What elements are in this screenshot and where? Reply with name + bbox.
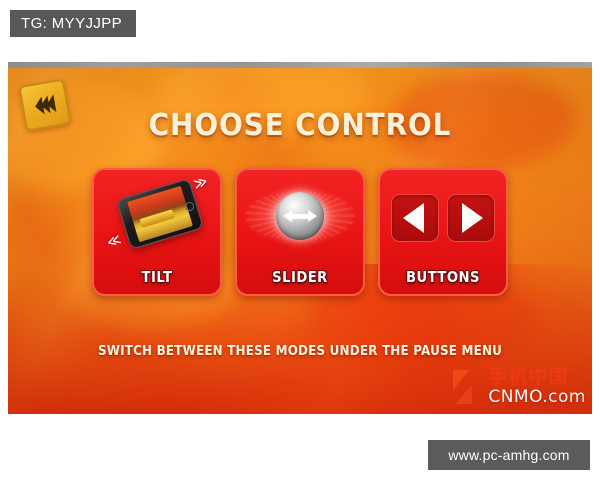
site-watermark-badge: www.pc-amhg.com <box>428 440 590 470</box>
control-option-slider[interactable]: SLIDER <box>235 168 365 296</box>
motion-lines-icon: ≫ <box>105 231 123 250</box>
control-option-label: SLIDER <box>245 268 356 286</box>
tg-badge: TG: MYYJJPP <box>10 10 136 37</box>
right-arrow-pad[interactable] <box>447 194 495 242</box>
tg-badge-label: TG: MYYJJPP <box>21 15 122 32</box>
cnmo-logo-icon <box>453 370 483 404</box>
left-arrow-pad[interactable] <box>391 194 439 242</box>
control-options-row: ≫ ≫ TILT <box>8 168 592 296</box>
hint-text: SWITCH BETWEEN THESE MODES UNDER THE PAU… <box>31 344 568 359</box>
control-option-label: TILT <box>102 268 213 286</box>
control-option-buttons[interactable]: BUTTONS <box>378 168 508 296</box>
page-title: CHOOSE CONTROL <box>28 108 571 143</box>
control-option-label: BUTTONS <box>388 268 499 286</box>
control-option-tilt[interactable]: ≫ ≫ TILT <box>92 168 222 296</box>
site-watermark-label: www.pc-amhg.com <box>448 447 569 463</box>
left-right-arrow-pads-icon <box>380 170 506 262</box>
left-right-arrow-knob-icon <box>237 170 363 262</box>
cnmo-watermark: 手机中国 CNMO.com <box>453 368 586 406</box>
cnmo-chinese-text: 手机中国 <box>488 368 586 387</box>
motion-lines-icon: ≫ <box>192 174 210 192</box>
cnmo-english-text: CNMO.com <box>488 389 586 406</box>
tilted-phone-icon: ≫ ≫ <box>94 170 220 262</box>
game-screen: CHOOSE CONTROL ≫ ≫ TILT <box>8 62 592 414</box>
frame-top-strip <box>8 62 592 68</box>
